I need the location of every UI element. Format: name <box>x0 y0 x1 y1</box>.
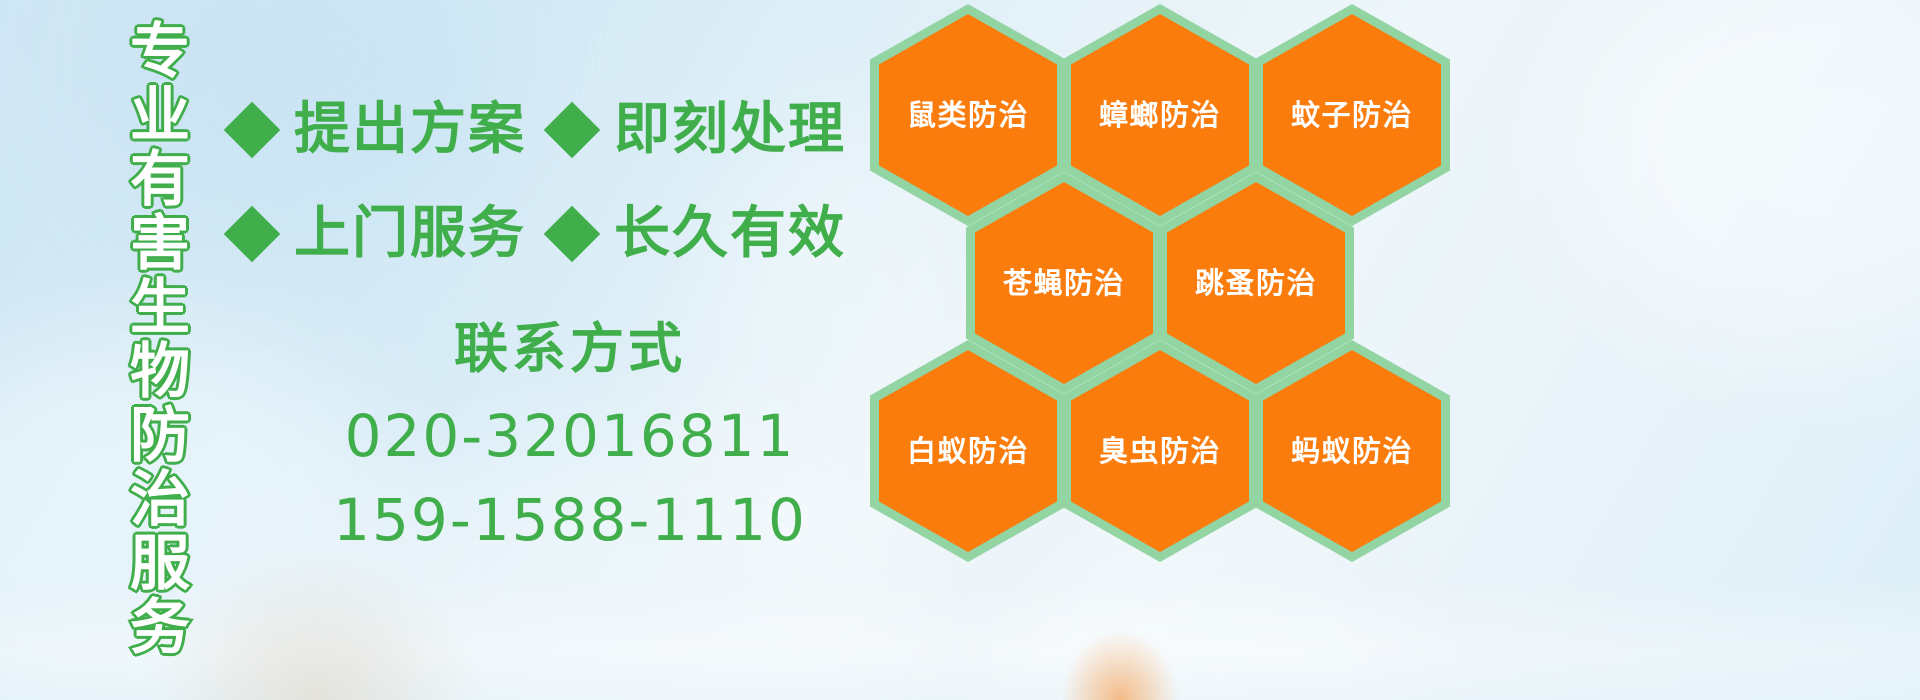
feature-item-long-lasting: 长久有效 <box>552 206 846 262</box>
contact-phone-mobile[interactable]: 159-1588-1110 <box>270 478 870 562</box>
service-hex-label: 鼠类防治 <box>907 101 1029 130</box>
background-floor-gradient <box>0 580 1920 700</box>
feature-item-propose-plan: 提出方案 <box>232 102 526 158</box>
feature-row: 提出方案 即刻处理 <box>232 78 862 182</box>
feature-list: 提出方案 即刻处理 上门服务 长久有效 <box>232 78 862 286</box>
service-hex-label: 苍蝇防治 <box>1003 269 1125 298</box>
diamond-icon <box>544 206 601 263</box>
background-glow-top-right <box>1560 0 1920 360</box>
contact-block: 联系方式 020-32016811 159-1588-1110 <box>270 310 870 562</box>
feature-label: 即刻处理 <box>614 102 846 158</box>
vertical-title-char: 专 <box>130 20 190 84</box>
vertical-title-char: 治 <box>130 468 190 532</box>
diamond-icon <box>224 206 281 263</box>
vertical-title-char: 务 <box>130 596 190 660</box>
feature-row: 上门服务 长久有效 <box>232 182 862 286</box>
service-honeycomb: 鼠类防治 蟑螂防治 蚊子防治 苍蝇防治 跳蚤防治 白蚁防治 臭虫防治 蚂蚁 <box>862 0 1462 554</box>
diamond-icon <box>544 102 601 159</box>
feature-label: 长久有效 <box>614 206 846 262</box>
feature-item-onsite-service: 上门服务 <box>232 206 526 262</box>
feature-item-immediate-handling: 即刻处理 <box>552 102 846 158</box>
contact-phone-landline[interactable]: 020-32016811 <box>270 394 870 478</box>
service-hex-label: 白蚁防治 <box>907 437 1029 466</box>
pest-control-banner: 专 业 有 害 生 物 防 治 服 务 提出方案 即刻处理 上门服务 <box>0 0 1920 700</box>
service-hex-label: 跳蚤防治 <box>1195 269 1317 298</box>
service-hex-label: 蟑螂防治 <box>1099 101 1221 130</box>
vertical-title-char: 服 <box>130 532 190 596</box>
vertical-title-char: 业 <box>130 84 190 148</box>
vertical-title-char: 物 <box>130 340 190 404</box>
service-hex-label: 蚊子防治 <box>1291 101 1413 130</box>
vertical-title-char: 防 <box>130 404 190 468</box>
service-hex-label: 臭虫防治 <box>1099 437 1221 466</box>
contact-heading: 联系方式 <box>270 310 870 388</box>
service-hex-label: 蚂蚁防治 <box>1291 437 1413 466</box>
diamond-icon <box>224 102 281 159</box>
vertical-title-char: 生 <box>130 276 190 340</box>
feature-label: 上门服务 <box>294 206 526 262</box>
vertical-title-char: 有 <box>130 148 190 212</box>
vertical-title: 专 业 有 害 生 物 防 治 服 务 <box>112 20 208 680</box>
background-orange-tint <box>1060 630 1180 700</box>
feature-label: 提出方案 <box>294 102 526 158</box>
vertical-title-char: 害 <box>130 212 190 276</box>
